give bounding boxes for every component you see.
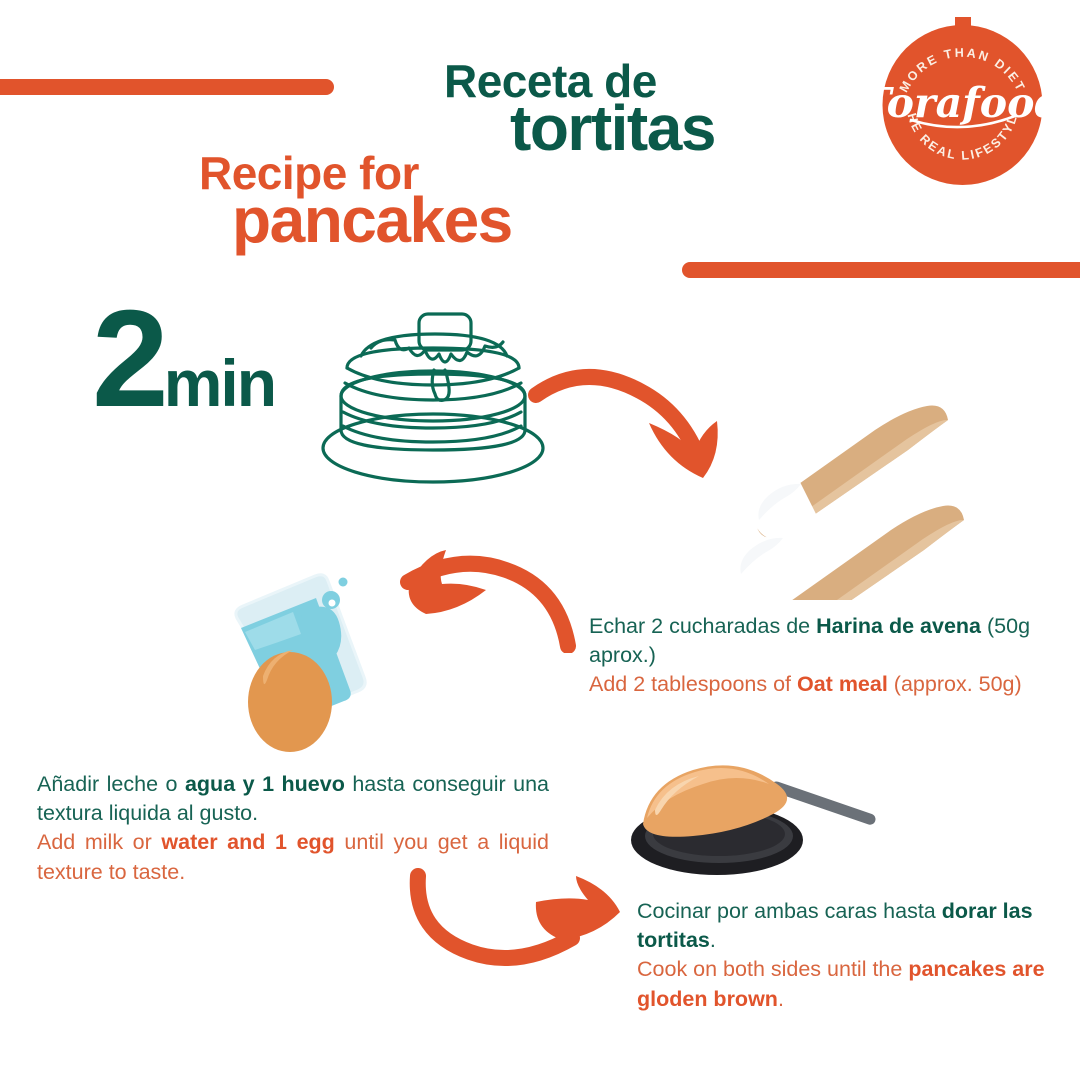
step-milk-es-plain1: Añadir leche o bbox=[37, 772, 185, 796]
glass-and-egg-illustration bbox=[215, 558, 385, 758]
step-cook-en-plain2: . bbox=[778, 987, 784, 1011]
step-milk-es-bold: agua y 1 huevo bbox=[185, 772, 345, 796]
step-cook-es-plain1: Cocinar por ambas caras hasta bbox=[637, 899, 942, 923]
step-cook-es-plain2: . bbox=[710, 928, 716, 952]
step-text-cook: Cocinar por ambas caras hasta dorar las … bbox=[637, 897, 1062, 1014]
prep-time-unit: min bbox=[164, 346, 275, 420]
step-text-milk: Añadir leche o agua y 1 huevo hasta cons… bbox=[37, 770, 549, 887]
decorative-bar-right bbox=[682, 262, 1080, 278]
step-flour-en-plain1: Add 2 tablespoons of bbox=[589, 672, 797, 696]
step-milk-en-plain1: Add milk or bbox=[37, 830, 161, 854]
step-flour-en-bold: Oat meal bbox=[797, 672, 888, 696]
step-flour-es-bold: Harina de avena bbox=[816, 614, 981, 638]
step-flour-es-plain1: Echar 2 cucharadas de bbox=[589, 614, 816, 638]
decorative-bar-left bbox=[0, 79, 334, 95]
step-flour-spanish: Echar 2 cucharadas de Harina de avena (5… bbox=[589, 612, 1059, 670]
step-cook-en-plain1: Cook on both sides until the bbox=[637, 957, 908, 981]
prep-time-badge: 2min bbox=[92, 290, 275, 428]
wooden-spoons-illustration bbox=[700, 400, 990, 600]
step-milk-spanish: Añadir leche o agua y 1 huevo hasta cons… bbox=[37, 770, 549, 828]
arrow-right-down-icon bbox=[520, 355, 735, 480]
step-cook-english: Cook on both sides until the pancakes ar… bbox=[637, 955, 1062, 1013]
step-cook-spanish: Cocinar por ambas caras hasta dorar las … bbox=[637, 897, 1062, 955]
prep-time-value: 2 bbox=[92, 282, 164, 436]
step-milk-en-bold: water and 1 egg bbox=[161, 830, 334, 854]
step-milk-english: Add milk or water and 1 egg until you ge… bbox=[37, 828, 549, 886]
title-spanish-line2: tortitas bbox=[510, 96, 715, 160]
step-flour-en-plain2: (approx. 50g) bbox=[888, 672, 1022, 696]
frying-pan-illustration bbox=[625, 752, 890, 880]
arrow-left-icon bbox=[380, 538, 585, 653]
step-flour-english: Add 2 tablespoons of Oat meal (approx. 5… bbox=[589, 670, 1059, 699]
infographic-canvas: Receta de tortitas Recipe for pancakes M… bbox=[0, 0, 1080, 1080]
torafood-logo: MORE THAN DIET THE REAL LIFESTYLE Torafo… bbox=[875, 15, 1050, 190]
step-text-flour: Echar 2 cucharadas de Harina de avena (5… bbox=[589, 612, 1059, 700]
title-english-line2: pancakes bbox=[232, 188, 512, 252]
logo-wordmark: Torafood bbox=[875, 79, 1050, 127]
